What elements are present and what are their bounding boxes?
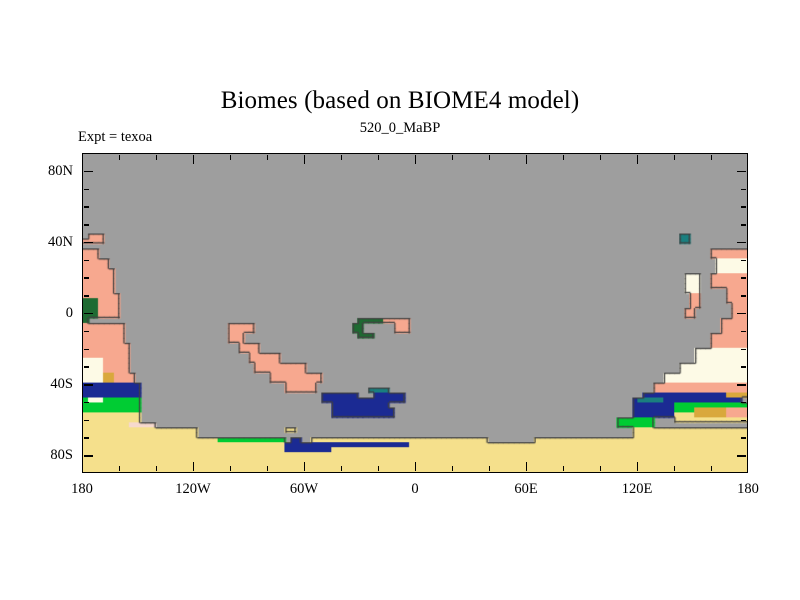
- tick-mark: [156, 466, 157, 471]
- tick-mark: [84, 242, 93, 243]
- tick-mark: [341, 155, 342, 160]
- tick-mark: [741, 402, 746, 403]
- y-tick-label: 40N: [48, 235, 73, 250]
- tick-mark: [741, 331, 746, 332]
- tick-mark: [341, 466, 342, 471]
- y-tick-label: 80N: [48, 164, 73, 179]
- tick-mark: [563, 155, 564, 160]
- tick-mark: [193, 462, 194, 471]
- tick-mark: [230, 155, 231, 160]
- x-tick-label: 120W: [175, 482, 210, 497]
- tick-mark: [119, 155, 120, 160]
- y-tick-label: 0: [66, 306, 73, 321]
- tick-mark: [737, 313, 746, 314]
- tick-mark: [526, 462, 527, 471]
- tick-mark: [304, 155, 305, 164]
- page-title: Biomes (based on BIOME4 model): [0, 88, 800, 113]
- tick-mark: [741, 277, 746, 278]
- tick-mark: [737, 242, 746, 243]
- tick-mark: [415, 462, 416, 471]
- y-tick-label: 40S: [50, 377, 73, 392]
- tick-mark: [156, 155, 157, 160]
- tick-mark: [563, 466, 564, 471]
- tick-mark: [674, 466, 675, 471]
- tick-mark: [84, 189, 89, 190]
- tick-mark: [84, 295, 89, 296]
- x-tick-label: 180: [737, 482, 759, 497]
- tick-mark: [737, 171, 746, 172]
- tick-mark: [84, 384, 93, 385]
- tick-mark: [741, 420, 746, 421]
- tick-mark: [415, 155, 416, 164]
- tick-mark: [84, 366, 89, 367]
- tick-mark: [378, 466, 379, 471]
- tick-mark: [84, 420, 89, 421]
- tick-mark: [741, 224, 746, 225]
- tick-mark: [737, 384, 746, 385]
- biome-map-figure: Biomes (based on BIOME4 model) 520_0_MaB…: [0, 0, 800, 600]
- tick-mark: [119, 466, 120, 471]
- tick-mark: [193, 155, 194, 164]
- tick-mark: [741, 295, 746, 296]
- tick-mark: [84, 313, 93, 314]
- tick-mark: [600, 466, 601, 471]
- tick-mark: [741, 260, 746, 261]
- biome-raster: [83, 154, 747, 472]
- tick-mark: [378, 155, 379, 160]
- tick-mark: [674, 155, 675, 160]
- tick-mark: [741, 437, 746, 438]
- x-tick-label: 120E: [622, 482, 653, 497]
- tick-mark: [304, 462, 305, 471]
- tick-mark: [741, 189, 746, 190]
- tick-mark: [230, 466, 231, 471]
- tick-mark: [84, 206, 89, 207]
- x-tick-label: 180: [71, 482, 93, 497]
- x-tick-label: 60E: [514, 482, 537, 497]
- tick-mark: [489, 466, 490, 471]
- tick-mark: [741, 349, 746, 350]
- tick-mark: [600, 155, 601, 160]
- tick-mark: [84, 171, 93, 172]
- experiment-label: Expt = texoa: [78, 130, 152, 145]
- tick-mark: [84, 455, 93, 456]
- map-plot-area: [82, 153, 748, 473]
- tick-mark: [637, 462, 638, 471]
- tick-mark: [489, 155, 490, 160]
- y-axis-labels: 80N40N040S80S: [0, 0, 73, 600]
- tick-mark: [84, 402, 89, 403]
- tick-mark: [267, 155, 268, 160]
- tick-mark: [741, 206, 746, 207]
- tick-mark: [737, 455, 746, 456]
- x-tick-label: 0: [411, 482, 418, 497]
- tick-mark: [637, 155, 638, 164]
- tick-mark: [84, 224, 89, 225]
- tick-mark: [711, 466, 712, 471]
- tick-mark: [267, 466, 268, 471]
- tick-mark: [741, 366, 746, 367]
- y-tick-label: 80S: [50, 448, 73, 463]
- tick-mark: [84, 331, 89, 332]
- tick-mark: [84, 260, 89, 261]
- tick-mark: [711, 155, 712, 160]
- tick-mark: [84, 437, 89, 438]
- tick-mark: [84, 277, 89, 278]
- tick-mark: [526, 155, 527, 164]
- tick-mark: [452, 155, 453, 160]
- tick-mark: [452, 466, 453, 471]
- tick-mark: [84, 349, 89, 350]
- x-tick-label: 60W: [290, 482, 318, 497]
